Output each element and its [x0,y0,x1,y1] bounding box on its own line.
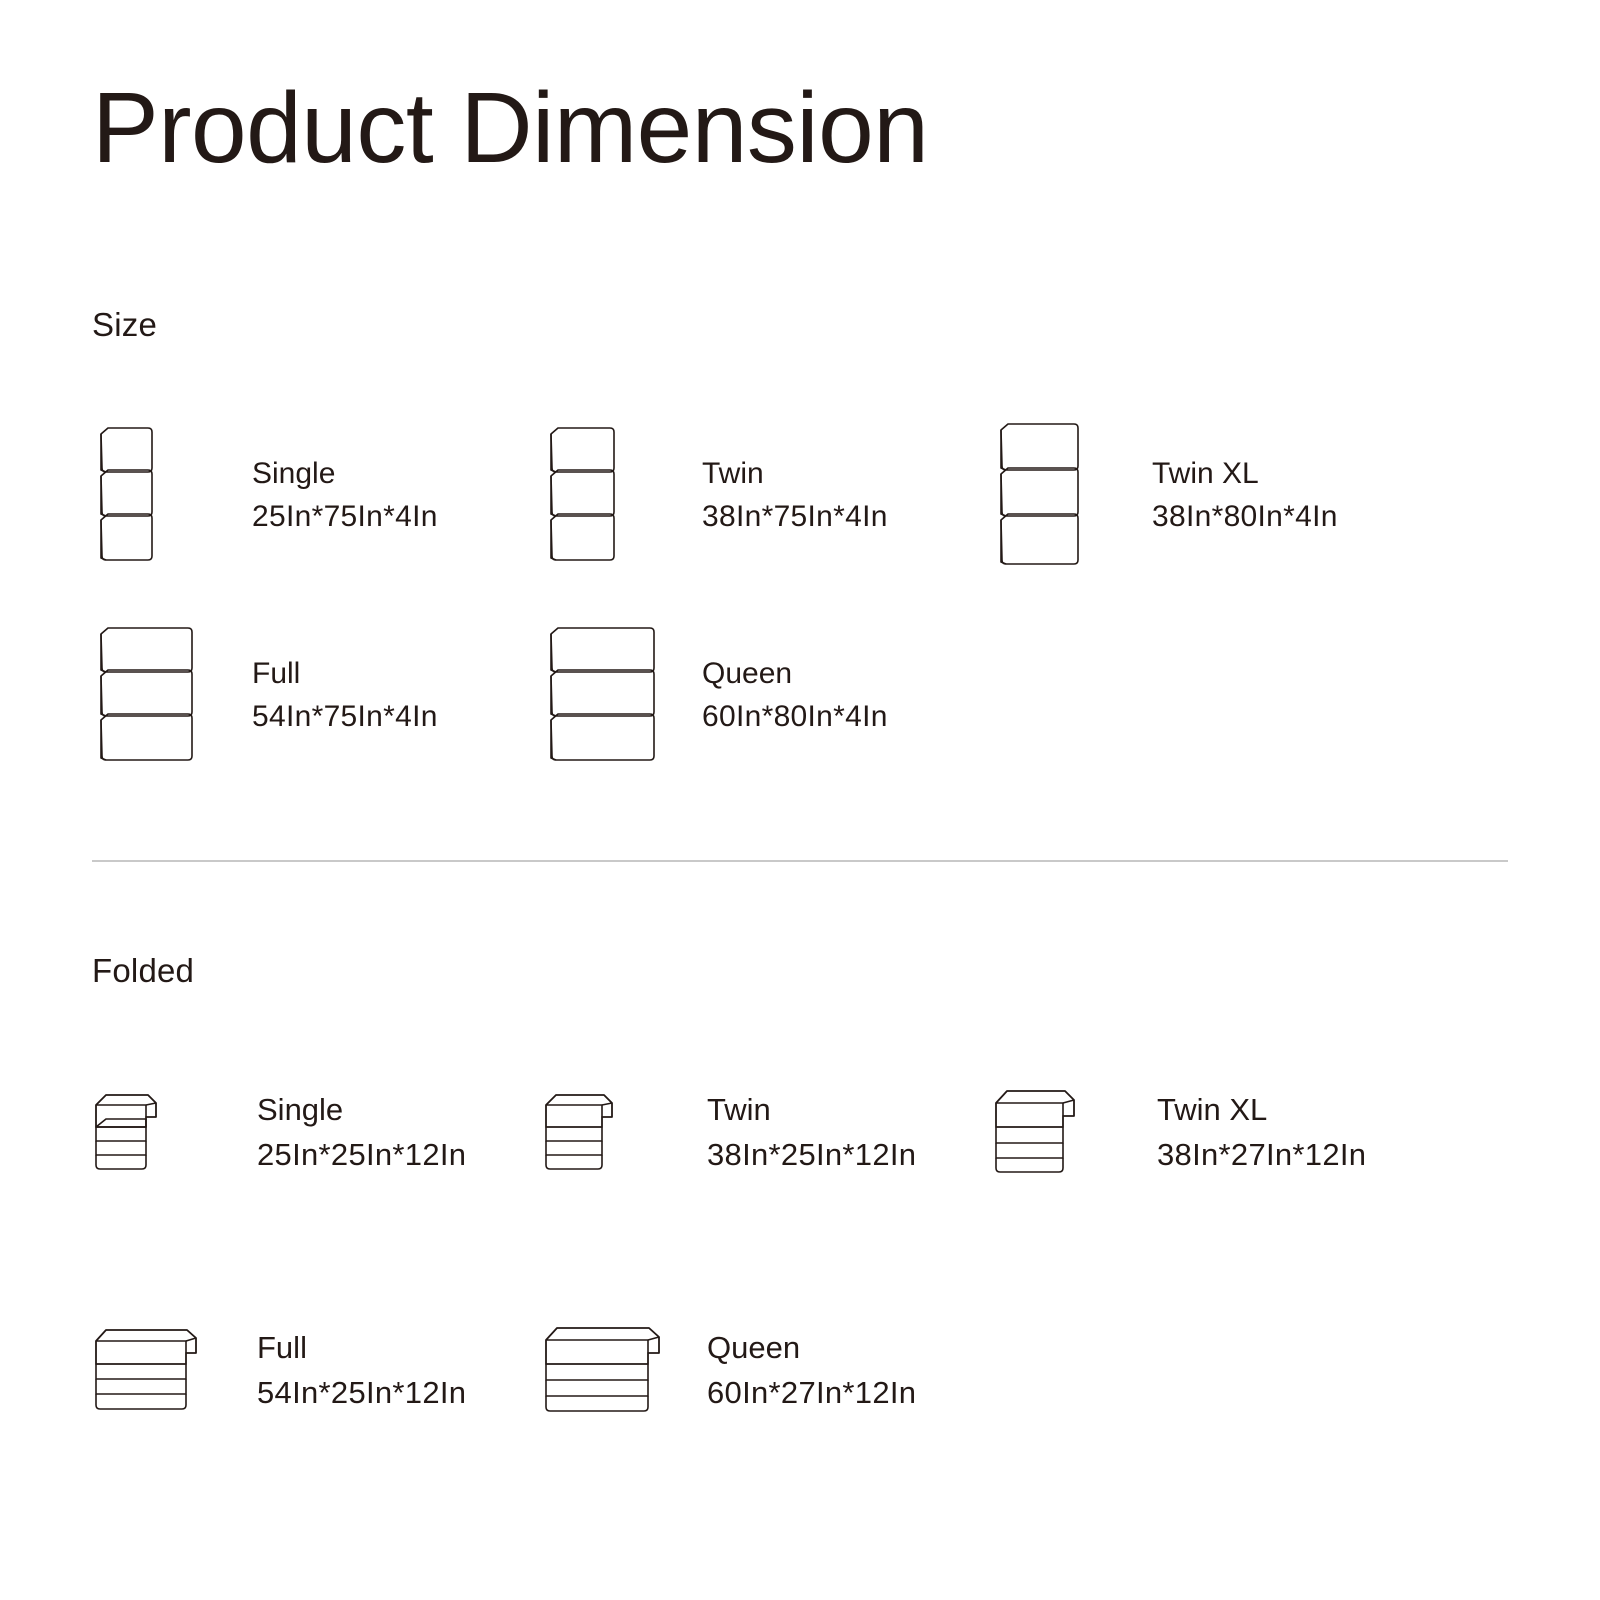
folded-item-dims: 38In*27In*12In [1157,1139,1366,1172]
mattress-folded-twin-xl-icon [992,1073,1157,1193]
folded-item-text: Twin XL 38In*27In*12In [1157,1094,1366,1171]
size-item-dims: 38In*80In*4In [1152,501,1338,533]
folded-item-name: Single [257,1094,466,1127]
folded-item-full[interactable]: Full 54In*25In*12In [92,1280,542,1462]
folded-item-name: Twin XL [1157,1094,1366,1127]
size-row-2: Full 54In*75In*4In [92,602,1508,788]
section-heading-size: Size [92,306,1508,344]
folded-item-name: Full [257,1332,466,1365]
folded-item-queen[interactable]: Queen 60In*27In*12In [542,1280,992,1462]
size-item-text: Twin XL 38In*80In*4In [1152,458,1338,533]
folded-item-name: Queen [707,1332,916,1365]
mattress-flat-single-icon [92,415,252,575]
folded-item-dims: 54In*25In*12In [257,1377,466,1410]
folded-item-dims: 25In*25In*12In [257,1139,466,1172]
size-section: Size [92,306,1508,788]
size-item-name: Full [252,658,438,690]
size-item-dims: 25In*75In*4In [252,501,438,533]
folded-item-name: Twin [707,1094,916,1127]
folded-item-text: Twin 38In*25In*12In [707,1094,916,1171]
size-item-dims: 38In*75In*4In [702,501,888,533]
folded-item-text: Single 25In*25In*12In [257,1094,466,1171]
product-dimension-page: Product Dimension Size [0,0,1600,1600]
section-heading-folded: Folded [92,952,1508,990]
size-item-dims: 54In*75In*4In [252,701,438,733]
page-title: Product Dimension [92,0,1508,178]
mattress-flat-twin-icon [542,415,702,575]
size-item-name: Twin XL [1152,458,1338,490]
folded-row-2: Full 54In*25In*12In [92,1280,1508,1462]
size-item-text: Full 54In*75In*4In [252,658,438,733]
folded-item-twin[interactable]: Twin 38In*25In*12In [542,1042,992,1224]
folded-item-dims: 38In*25In*12In [707,1139,916,1172]
folded-item-text: Full 54In*25In*12In [257,1332,466,1409]
mattress-flat-twin-xl-icon [992,415,1152,575]
size-item-text: Single 25In*75In*4In [252,458,438,533]
folded-item-dims: 60In*27In*12In [707,1377,916,1410]
mattress-folded-single-icon [92,1073,257,1193]
size-row-1: Single 25In*75In*4In [92,402,1508,588]
folded-item-twin-xl[interactable]: Twin XL 38In*27In*12In [992,1042,1442,1224]
size-item-name: Twin [702,458,888,490]
mattress-flat-queen-icon [542,615,702,775]
size-item-twin-xl[interactable]: Twin XL 38In*80In*4In [992,402,1442,588]
size-item-twin[interactable]: Twin 38In*75In*4In [542,402,992,588]
size-item-queen[interactable]: Queen 60In*80In*4In [542,602,992,788]
folded-item-text: Queen 60In*27In*12In [707,1332,916,1409]
folded-section: Folded [92,952,1508,1462]
size-item-text: Queen 60In*80In*4In [702,658,888,733]
size-item-text: Twin 38In*75In*4In [702,458,888,533]
divider-wrap [92,788,1508,952]
mattress-folded-full-icon [92,1311,257,1431]
mattress-folded-queen-icon [542,1311,707,1431]
size-item-full[interactable]: Full 54In*75In*4In [92,602,542,788]
mattress-folded-twin-icon [542,1073,707,1193]
size-item-single[interactable]: Single 25In*75In*4In [92,402,542,588]
size-item-name: Queen [702,658,888,690]
mattress-flat-full-icon [92,615,252,775]
folded-item-single[interactable]: Single 25In*25In*12In [92,1042,542,1224]
size-item-name: Single [252,458,438,490]
size-item-dims: 60In*80In*4In [702,701,888,733]
folded-row-1: Single 25In*25In*12In [92,1042,1508,1224]
section-divider [92,860,1508,862]
